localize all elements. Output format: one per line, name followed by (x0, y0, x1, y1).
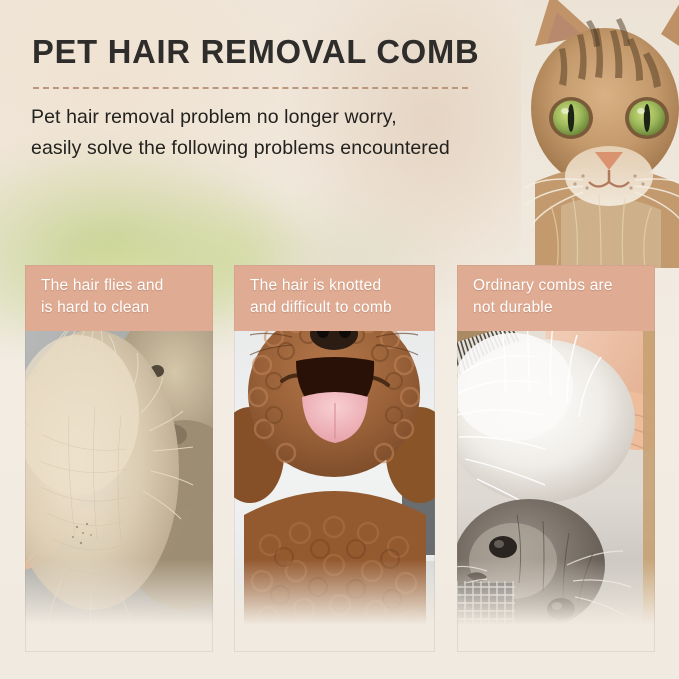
panel-2-caption-line-2: and difficult to comb (250, 297, 421, 319)
product-infographic: PET HAIR REMOVAL COMB Pet hair removal p… (0, 0, 679, 679)
panel-2-caption-line-1: The hair is knotted (250, 275, 421, 297)
panel-2-caption: The hair is knotted and difficult to com… (234, 265, 435, 331)
panel-1-caption-line-1: The hair flies and (41, 275, 199, 297)
panel-3-caption-line-2: not durable (473, 297, 641, 319)
panel-1-caption-line-2: is hard to clean (41, 297, 199, 319)
panel-3-caption-line-1: Ordinary combs are (473, 275, 641, 297)
panel-3-caption: Ordinary combs are not durable (457, 265, 655, 331)
background-bottom-fade (0, 559, 679, 679)
panel-1-caption: The hair flies and is hard to clean (25, 265, 213, 331)
